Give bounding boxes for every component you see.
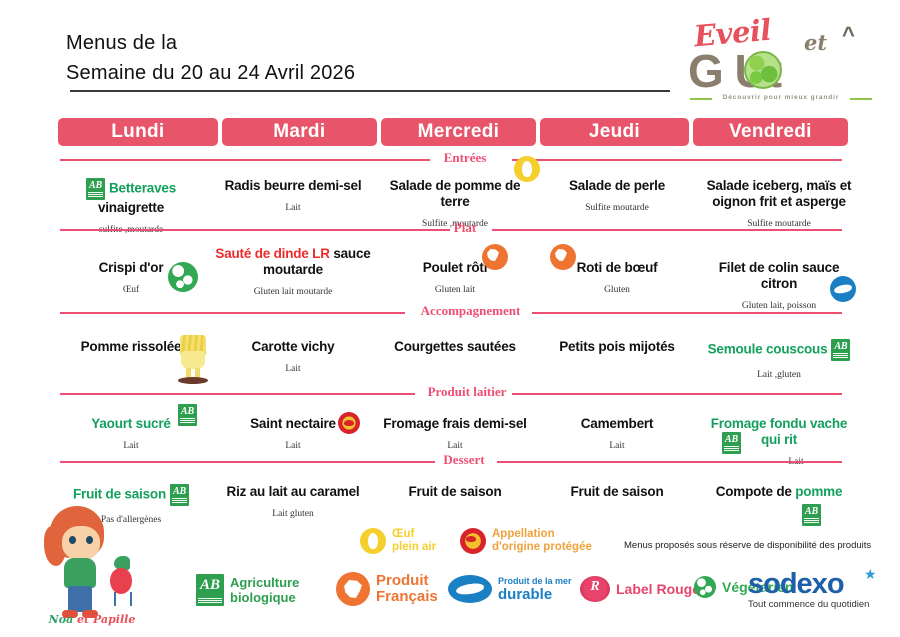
dish-name: Salade de pomme de terre: [376, 178, 534, 210]
legend-label: Produit de la mer durable: [498, 574, 572, 603]
ab-organic-icon: AB: [196, 574, 224, 606]
logo-circumflex-icon: ^: [842, 22, 855, 48]
ab-organic-icon: AB: [170, 484, 189, 506]
produit-mer-durable-icon: [830, 276, 856, 302]
legend-row-bottom: AB Agriculture biologique Produit França…: [196, 566, 896, 622]
menu-cell: Fruit de saison: [536, 484, 698, 525]
ab-organic-icon: AB: [86, 178, 105, 200]
allergen-text: Lait: [52, 441, 210, 451]
menu-cell: Courgettes sautées: [374, 339, 536, 380]
menu-cell: Petits pois mijotés: [536, 339, 698, 380]
aop-icon: [338, 412, 360, 434]
star-icon: ★: [864, 566, 877, 583]
mascot-body: [64, 558, 96, 588]
dish-name: Fromage frais demi-sel: [376, 416, 534, 432]
allergen-text: Gluten: [538, 285, 696, 295]
globe-icon: [744, 51, 782, 89]
availability-disclaimer: Menus proposés sous réserve de disponibi…: [624, 540, 894, 551]
dish-name: ABBetteraves vinaigrette: [52, 178, 210, 216]
eveil-et-gout-logo: Eveil et ^ G Ut Découvrir pour mieux gra…: [682, 14, 878, 106]
produit-francais-icon: [482, 244, 508, 270]
title-line-1: Menus de la: [66, 28, 666, 58]
logo-word-et: et: [804, 30, 827, 55]
dish-name: Salade iceberg, maïs et oignon frit et a…: [700, 178, 858, 210]
menu-cell: Crispi d'or Œuf: [50, 260, 212, 311]
section-label-accompagnement: Accompagnement: [398, 303, 543, 319]
menu-cell: Fruit de saison: [374, 484, 536, 525]
allergen-text: Lait ,gluten: [700, 370, 858, 380]
title-line-2: Semaine du 20 au 24 Avril 2026: [66, 58, 666, 88]
day-header-mercredi[interactable]: Mercredi: [381, 118, 536, 146]
ab-organic-icon: AB: [722, 432, 741, 454]
radish-character-icon: [110, 568, 132, 594]
dish-name: Radis beurre demi-sel: [214, 178, 372, 194]
row-dessert: Fruit de saisonAB Pas d'allergènes Riz a…: [50, 484, 860, 525]
section-label-plat: Plat: [440, 220, 490, 236]
allergen-text: Lait: [214, 203, 372, 213]
allergen-text: Sulfite moutarde: [538, 203, 696, 213]
section-label-entrees: Entrées: [420, 150, 510, 166]
ab-organic-icon: AB: [802, 504, 821, 526]
legend-label: Œuf plein air: [392, 528, 436, 554]
section-label-produit-laitier: Produit laitier: [408, 384, 526, 400]
ab-organic-icon: AB: [178, 404, 197, 426]
allergen-text: Gluten lait moutarde: [214, 287, 372, 297]
menu-cell: Riz au lait au caramel Lait gluten: [212, 484, 374, 525]
menu-cell: Filet de colin sauce citron Gluten lait,…: [698, 260, 860, 311]
sodexo-wordmark: sodexo: [748, 568, 844, 600]
page-header: Menus de la Semaine du 20 au 24 Avril 20…: [0, 0, 900, 110]
mascot-legs: [68, 586, 92, 612]
legend-label-rouge: Label Rouge: [580, 576, 700, 602]
allergen-text: Lait: [214, 441, 372, 451]
dish-name: Salade de perle: [538, 178, 696, 194]
title-underline: [70, 90, 670, 92]
legend-label: Appellation d'origine protégée: [492, 528, 592, 554]
legend-agriculture-biologique: AB Agriculture biologique: [196, 574, 299, 606]
dish-name: Compote de pomme: [700, 484, 858, 500]
produit-mer-durable-icon: [448, 575, 492, 603]
allergen-text: Lait: [538, 441, 696, 451]
egg-plein-air-icon: [360, 528, 386, 554]
allergen-text: Lait gluten: [214, 509, 372, 519]
allergen-text: Gluten lait: [376, 285, 534, 295]
menu-cell: Semoule couscousAB Lait ,gluten: [698, 339, 860, 380]
dish-name: Petits pois mijotés: [538, 339, 696, 355]
dish-name: Poulet rôti: [376, 260, 534, 276]
legend-produit-mer-durable: Produit de la mer durable: [448, 574, 572, 603]
day-header-mardi[interactable]: Mardi: [222, 118, 377, 146]
label-rouge-icon: [580, 576, 610, 602]
section-accompagnement: Accompagnement Pomme rissolée Carotte vi…: [0, 305, 900, 380]
dish-name: Fruit de saison: [538, 484, 696, 500]
mascot-eye-right: [86, 536, 93, 544]
day-header-bar: Lundi Mardi Mercredi Jeudi Vendredi: [58, 118, 848, 146]
legend-label: Agriculture biologique: [230, 575, 299, 605]
vegetarien-icon: [694, 576, 716, 598]
mascot-name: Noa et Papille: [22, 613, 162, 626]
dish-name: Riz au lait au caramel: [214, 484, 372, 500]
menu-cell: Sauté de dinde LR sauce moutarde Gluten …: [212, 260, 374, 311]
mascot-face: [62, 526, 100, 560]
menu-cell: Carotte vichy Lait: [212, 339, 374, 380]
dish-name: Semoule couscousAB: [700, 339, 858, 361]
day-header-lundi[interactable]: Lundi: [58, 118, 218, 146]
logo-tagline: Découvrir pour mieux grandir: [690, 94, 872, 101]
legend-label: Produit Français: [376, 573, 438, 605]
vegetarien-icon: [168, 262, 198, 292]
row-accompagnement: Pomme rissolée Carotte vichy Lait Courge…: [50, 339, 860, 380]
menu-cell: Compote de pomme AB: [698, 484, 860, 525]
dish-name: Courgettes sautées: [376, 339, 534, 355]
legend-label: Label Rouge: [616, 583, 700, 596]
legend-produit-francais: Produit Français: [336, 572, 438, 606]
aop-icon: [460, 528, 486, 554]
fries-mascot-icon: [176, 335, 210, 383]
menu-cell: Roti de bœuf Gluten: [536, 260, 698, 311]
menu-page: Menus de la Semaine du 20 au 24 Avril 20…: [0, 0, 900, 637]
ab-organic-icon: AB: [831, 339, 850, 361]
radish-legs: [114, 592, 132, 606]
legend-aop: Appellation d'origine protégée: [460, 528, 592, 554]
produit-francais-icon: [336, 572, 370, 606]
produit-francais-icon: [550, 244, 576, 270]
dish-name: Camembert: [538, 416, 696, 432]
legend-egg-plein-air: Œuf plein air: [360, 528, 436, 554]
dish-name: Carotte vichy: [214, 339, 372, 355]
noa-et-papille-mascot: Noa et Papille: [22, 500, 162, 628]
allergen-text: Lait: [376, 441, 534, 451]
allergen-text: Lait: [214, 364, 372, 374]
menu-cell: Pomme rissolée: [50, 339, 212, 380]
section-label-dessert: Dessert: [428, 452, 500, 468]
section-plat: Plat Crispi d'or Œuf Sauté de dinde LR s…: [0, 222, 900, 311]
mascot-eye-left: [69, 536, 76, 544]
dish-name: Sauté de dinde LR sauce moutarde: [214, 246, 372, 278]
sodexo-logo: sodexo ★ Tout commence du quotidien: [748, 568, 869, 610]
dish-name: Fruit de saison: [376, 484, 534, 500]
day-header-jeudi[interactable]: Jeudi: [540, 118, 689, 146]
page-title: Menus de la Semaine du 20 au 24 Avril 20…: [66, 28, 666, 88]
day-header-vendredi[interactable]: Vendredi: [693, 118, 848, 146]
